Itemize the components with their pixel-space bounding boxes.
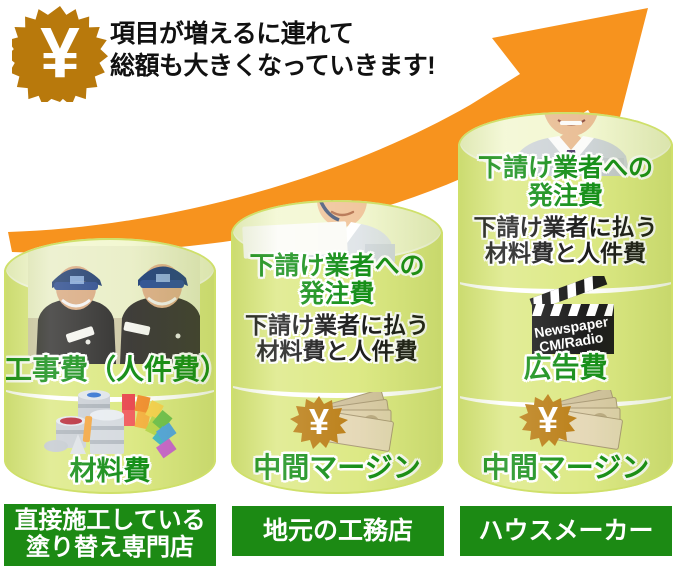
headline: 項目が増えるに連れて 総額も大きくなっていきます! <box>110 18 435 82</box>
yen-symbol-glyph: ¥ <box>309 401 329 442</box>
yen-symbol-glyph: ¥ <box>40 14 80 93</box>
section-label-construction-cost: 工事費（人件費） <box>4 354 216 385</box>
section-label-subcontract-detail: 下請け業者に払う 材料費と人件費 <box>458 214 673 266</box>
footer-label-local: 地元の工務店 <box>232 506 444 556</box>
paint-cans-icon <box>44 390 180 464</box>
footer-label-housemaker: ハウスメーカー <box>460 506 672 556</box>
clapperboard-icon: Newspaper CM/Radio <box>520 276 624 356</box>
yen-starburst-badge: ¥ <box>12 6 108 102</box>
yen-symbol-glyph: ¥ <box>538 399 558 440</box>
section-label-subcontract-detail: 下請け業者に払う 材料費と人件費 <box>231 312 443 364</box>
section-label-intermediate-margin: 中間マージン <box>231 452 443 483</box>
footer-label-direct-line-2: 塗り替え専門店 <box>14 535 205 562</box>
section-label-intermediate-margin: 中間マージン <box>458 452 673 483</box>
headline-line-2: 総額も大きくなっていきます! <box>110 50 435 82</box>
footer-label-housemaker-text: ハウスメーカー <box>478 517 653 545</box>
infographic-canvas: ¥ 項目が増えるに連れて 総額も大きくなっていきます! <box>0 0 680 570</box>
footer-label-local-text: 地元の工務店 <box>263 517 413 545</box>
section-label-subcontract-order-cost: 下請け業者への 発注費 <box>231 252 443 308</box>
headline-line-1: 項目が増えるに連れて <box>110 18 435 50</box>
cylinder-direct: 工事費（人件費） <box>4 238 216 494</box>
section-label-material-cost: 材料費 <box>4 456 216 486</box>
footer-label-direct-line-1: 直接施工している <box>14 508 205 535</box>
footer-label-direct: 直接施工している 塗り替え専門店 <box>4 504 216 566</box>
section-label-advertising-cost: 広告費 <box>458 352 673 383</box>
cylinder-housemaker: 下請け業者への 発注費 下請け業者に払う 材料費と人件費 <box>458 112 673 494</box>
painters-photo <box>28 246 200 364</box>
section-label-subcontract-order-cost: 下請け業者への 発注費 <box>458 154 673 210</box>
cylinder-local: 下請け業者への 発注費 下請け業者に払う 材料費と人件費 <box>231 200 443 494</box>
